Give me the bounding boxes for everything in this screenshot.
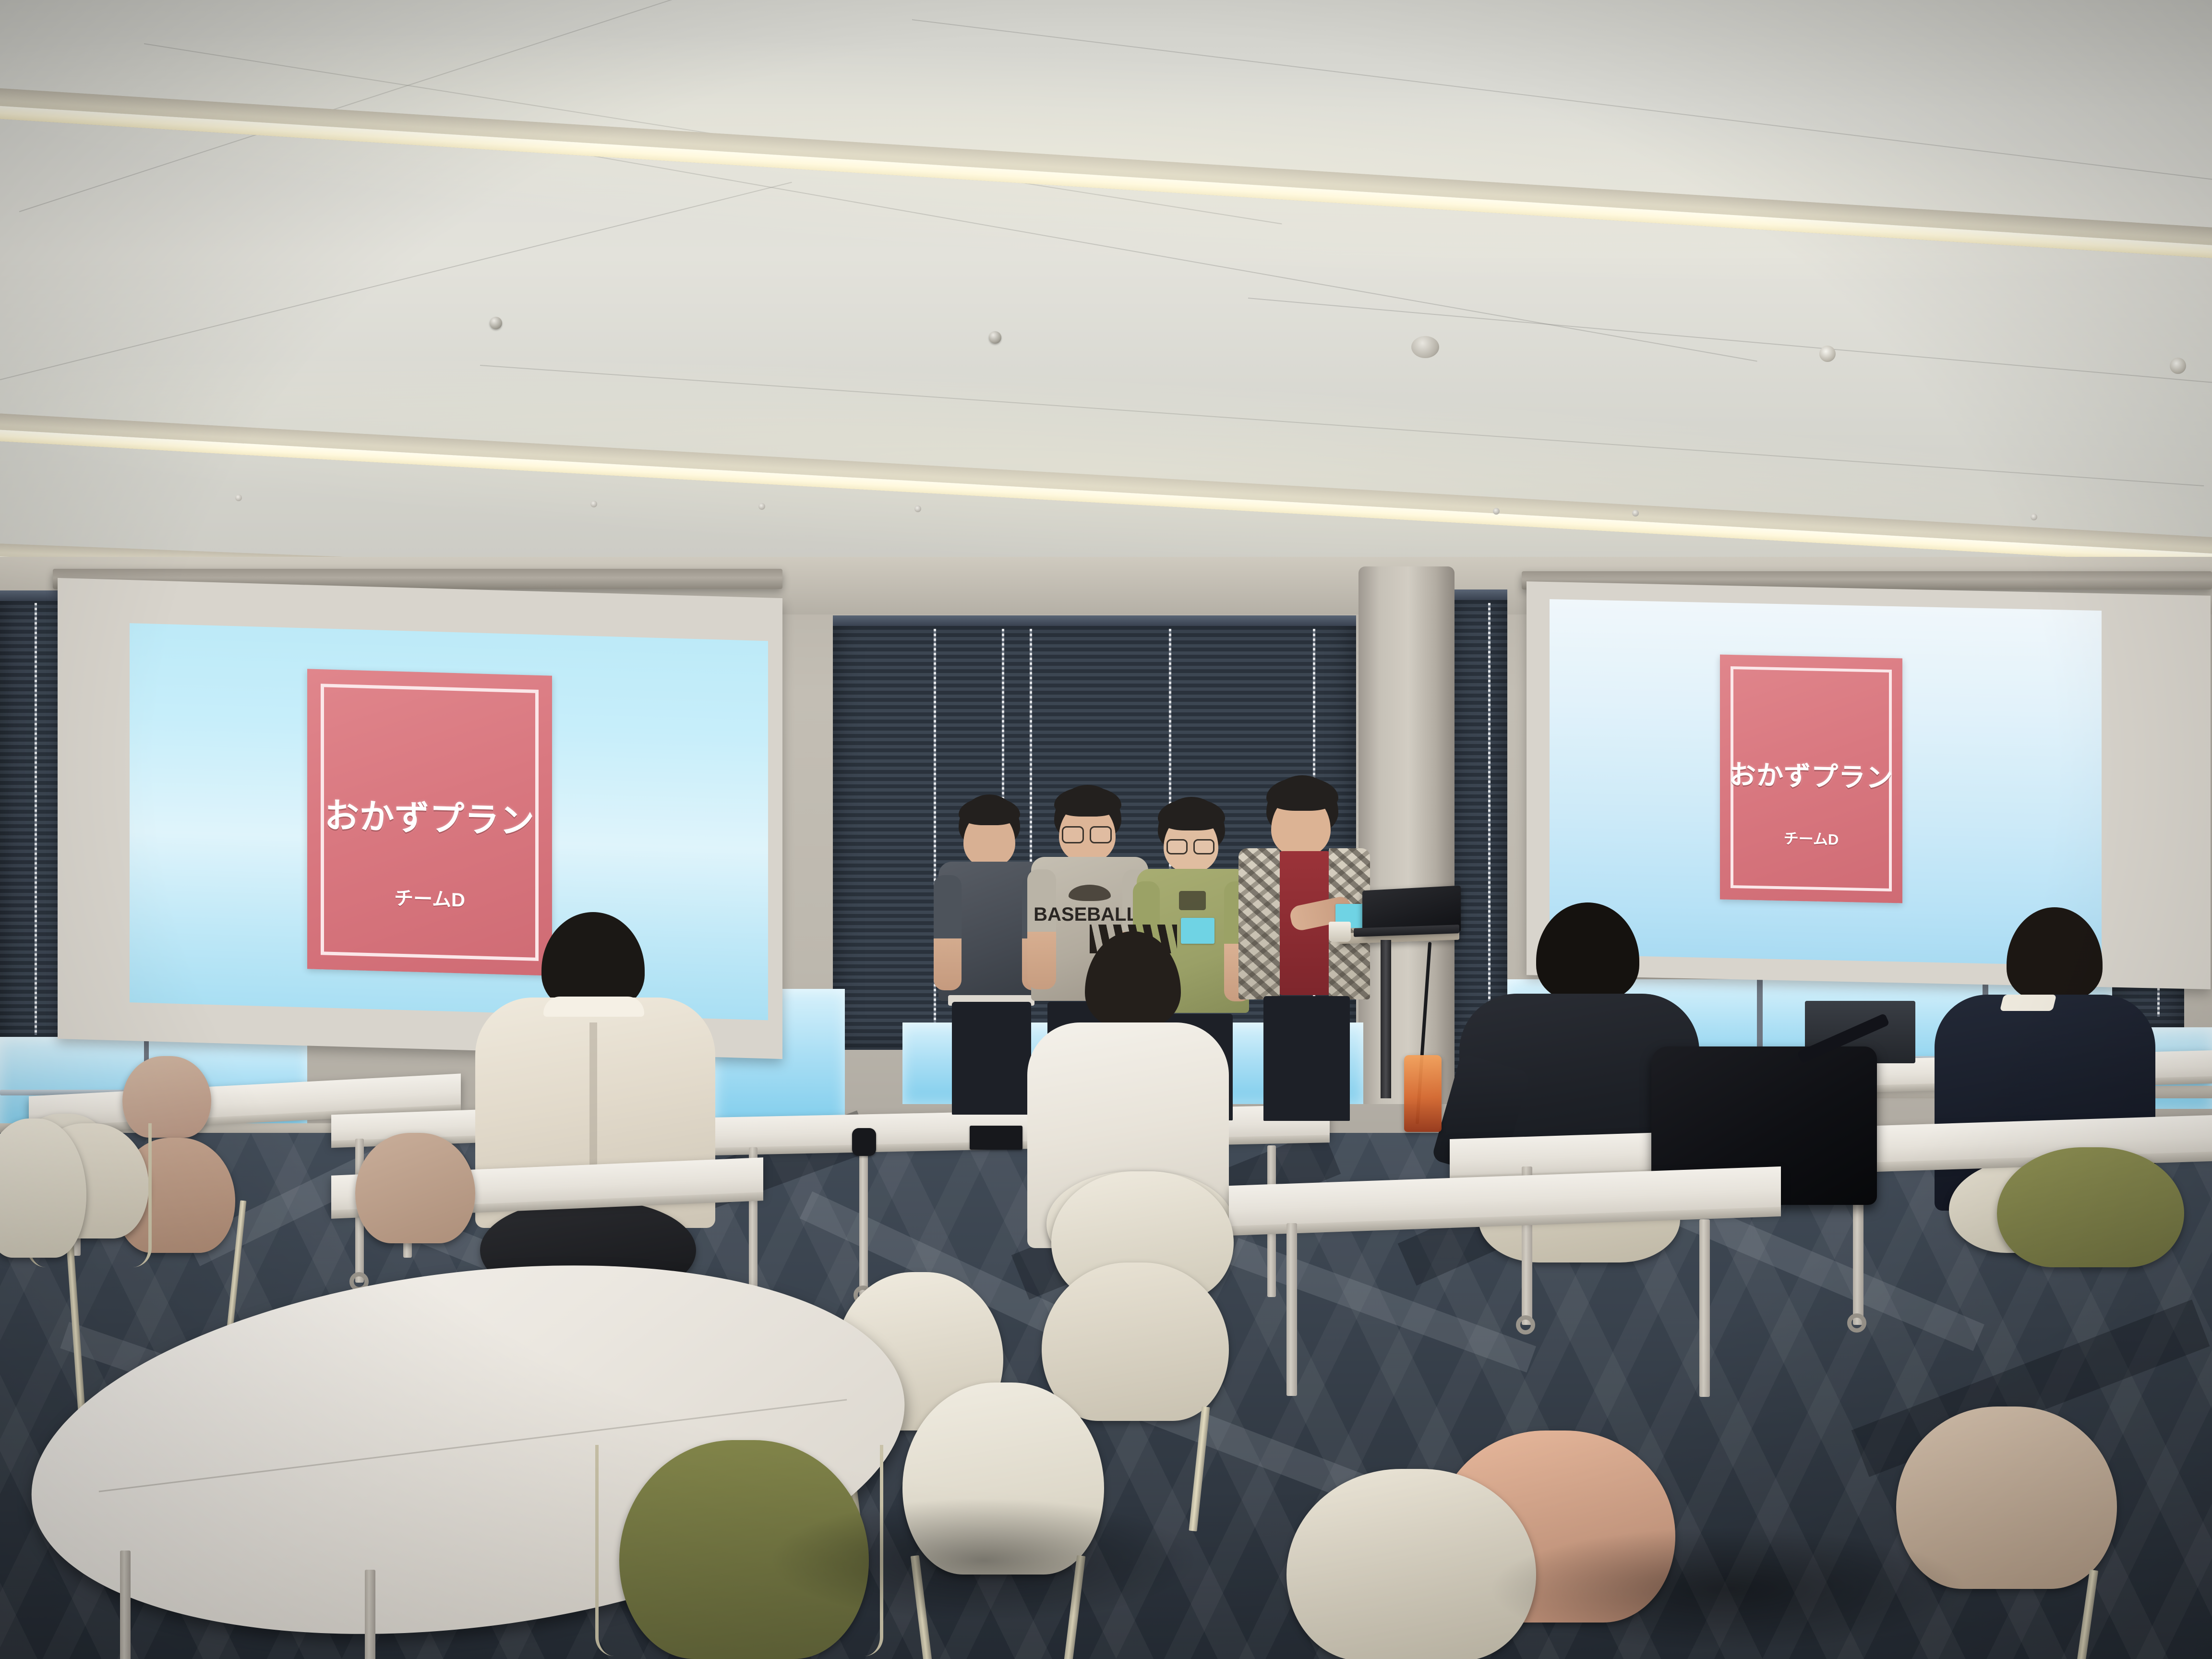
table-center-lower-leg-2 <box>1699 1219 1710 1397</box>
ceiling-downlight-2 <box>2170 358 2186 374</box>
presenter-3-fringe <box>1158 799 1225 830</box>
ceiling-fixture-1 <box>235 494 242 501</box>
ceiling-speaker <box>1411 336 1439 358</box>
cable-coil[interactable] <box>852 1128 876 1156</box>
ceiling-fixture-4 <box>914 505 921 512</box>
presenter-4-legs <box>1263 996 1350 1121</box>
presenter-3-glasses-right <box>1193 839 1214 854</box>
presenter-2-glasses-left <box>1062 826 1084 843</box>
paper-cup[interactable] <box>1329 922 1351 942</box>
presenter-4 <box>1234 775 1373 1121</box>
audience-front-left-collar <box>543 997 644 1017</box>
conference-room-photo: おかずプラン チームD おかずプラン チームD <box>0 0 2212 1659</box>
left-slide-title: おかずプラン <box>307 786 552 843</box>
audience-far-right-collar <box>2000 995 2056 1011</box>
sprinkler-head-1 <box>490 317 502 329</box>
presenter-2-glasses-right <box>1090 826 1112 843</box>
chair-center-2[interactable] <box>1042 1262 1229 1421</box>
ceiling <box>0 0 2212 610</box>
presenter-3-glasses-left <box>1166 839 1188 854</box>
ceiling-downlight-1 <box>1819 346 1836 362</box>
ceiling-fixture-5 <box>1493 508 1500 515</box>
chair-mid-left-2[interactable] <box>355 1133 475 1243</box>
ceiling-fixture-2 <box>590 501 597 507</box>
right-slide-card: おかずプラン チームD <box>1720 655 1902 903</box>
structural-column <box>1358 566 1455 1104</box>
table-caster-5 <box>1516 1315 1535 1334</box>
table-center-back-leg-2 <box>859 1146 868 1296</box>
ceiling-fixture-6 <box>1632 510 1639 517</box>
ceiling-light-strip-2 <box>0 412 2212 568</box>
ceiling-fixture-3 <box>758 503 765 510</box>
presenter-2-fringe <box>1054 787 1121 817</box>
laptop-stand-pole <box>1381 940 1391 1098</box>
ceiling-light-strip-1 <box>0 86 2212 262</box>
floor-shadow-1 <box>768 1498 1200 1623</box>
chair-foreground-right-cream[interactable] <box>1286 1469 1536 1659</box>
audience-right-hair <box>1536 902 1639 1001</box>
presenter-1-legs <box>952 1002 1031 1115</box>
presenter-3-tee-graphic <box>1179 891 1206 910</box>
right-slide-title: おかずプラン <box>1720 753 1902 796</box>
chair-right-olive[interactable] <box>1997 1147 2184 1267</box>
presenter-4-shirt-left-panel <box>1238 848 1280 999</box>
audience-front-left-hair <box>541 912 645 1010</box>
audience-front-center-hair-spikes <box>1090 925 1177 953</box>
oval-table-leg-1 <box>120 1551 131 1659</box>
sprinkler-head-2 <box>989 331 1001 344</box>
drink-bottle[interactable] <box>1404 1055 1442 1132</box>
ceiling-fixture-7 <box>2031 514 2037 520</box>
table-caster-6 <box>1847 1313 1866 1333</box>
floor-shadow-2 <box>1488 1527 1968 1651</box>
table-center-lower-leg-1 <box>1286 1223 1297 1396</box>
audience-far-right-hair <box>2007 907 2103 1001</box>
presenter-2-tee-text: BASEBALL <box>1027 904 1144 926</box>
presenter-4-fringe <box>1266 777 1338 811</box>
oval-table-leg-2 <box>365 1570 375 1659</box>
power-adapter[interactable] <box>970 1126 1022 1150</box>
presenter-1-arm-left <box>934 875 962 990</box>
right-slide-team: チームD <box>1720 825 1902 851</box>
presenter-1-fringe <box>959 797 1020 825</box>
